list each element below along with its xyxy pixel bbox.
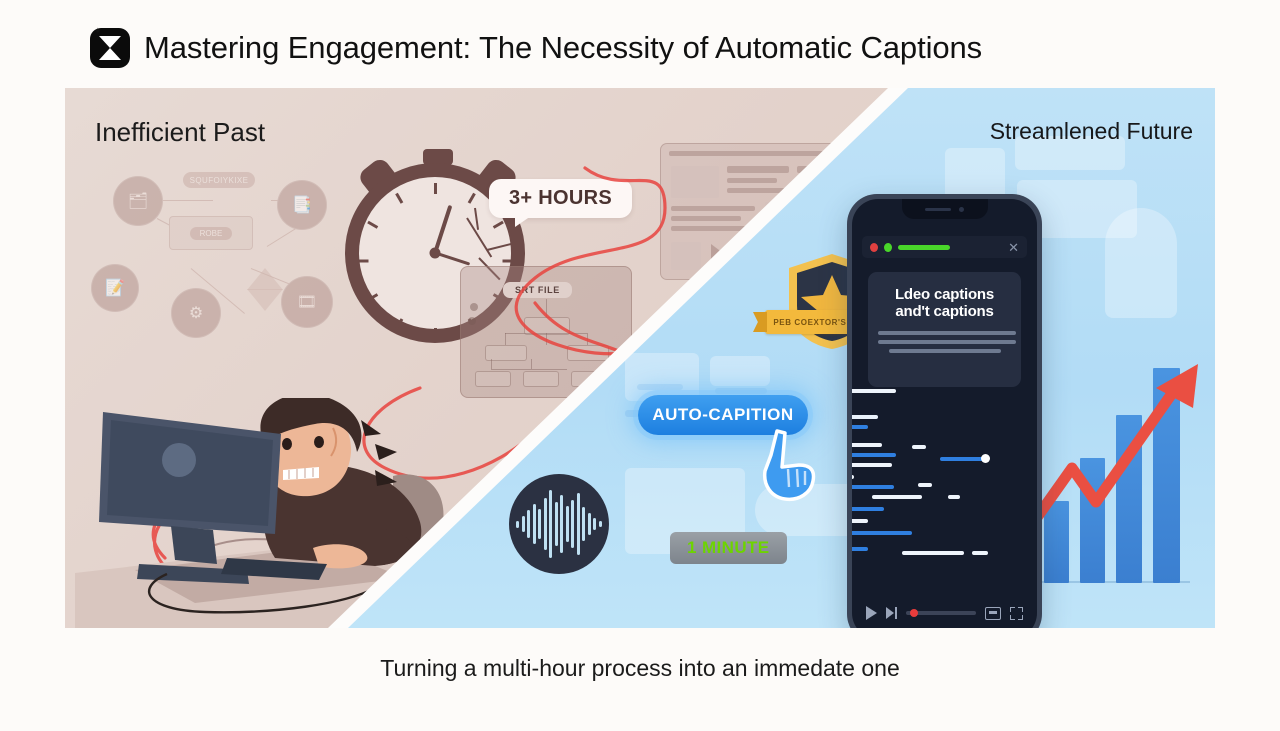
srt-file-chip: SRT FILE: [503, 282, 572, 298]
node-icon-notes: 📝: [91, 264, 139, 312]
node-icon-settings: ⚙: [171, 288, 221, 338]
decor-diamond-bottom: [247, 289, 283, 311]
ghost-panel-1: [945, 148, 1005, 200]
hourglass-icon: ✦: [90, 28, 130, 68]
node-icon-documents: 🗂: [113, 176, 163, 226]
sparkle-icon: ✦: [94, 26, 100, 32]
status-dot-icon: [884, 243, 892, 252]
footer-caption: Turning a multi-hour process into an imm…: [0, 655, 1280, 682]
record-dot-icon: [870, 243, 878, 252]
progress-indicator: [898, 245, 950, 250]
trend-arrow-icon: [1030, 316, 1215, 566]
phone-status-row: ✕: [862, 236, 1027, 258]
node-chip-top: SQUFOIYKIXE: [183, 172, 255, 188]
caption-preview-card: Ldeo captions and't captions: [868, 272, 1021, 387]
hero-image: 🗂 📑 📝 ⚙ 🎞 SQUFOIYKIXE ROBE: [65, 88, 1215, 628]
ghost-panel-5: [625, 353, 699, 401]
decor-diamond-top: [247, 268, 283, 290]
pointing-hand-cursor-icon: [755, 425, 823, 503]
node-icon-media: 🎞: [281, 276, 333, 328]
page-title: Mastering Engagement: The Necessity of A…: [144, 30, 982, 66]
ghost-panel-4: [1105, 208, 1177, 318]
close-icon[interactable]: ✕: [1008, 241, 1019, 254]
caption-line-1: Ldeo captions: [878, 286, 1011, 303]
node-center-label: ROBE: [190, 227, 233, 240]
play-icon[interactable]: [866, 606, 877, 620]
node-center-box: ROBE: [169, 216, 253, 250]
page-title-row: ✦ Mastering Engagement: The Necessity of…: [90, 22, 1200, 74]
progress-bar[interactable]: [906, 611, 976, 615]
slide-root: ✦ Mastering Engagement: The Necessity of…: [0, 0, 1280, 731]
caption-line-2: and't captions: [878, 303, 1011, 320]
node-icon-subtitles: 📑: [277, 180, 327, 230]
one-minute-badge: 1 MINUTE: [670, 532, 787, 564]
ghost-panel-6: [710, 356, 770, 386]
left-panel-label: Inefficient Past: [95, 117, 265, 148]
phone-screen: ✕ Ldeo captions and't captions: [852, 199, 1037, 628]
phone-mockup: ✕ Ldeo captions and't captions: [847, 194, 1042, 628]
viewer-retention-chart: [1040, 368, 1190, 583]
right-panel-label: Streamlened Future: [990, 118, 1193, 145]
hours-badge: 3+ HOURS: [489, 179, 632, 218]
next-icon[interactable]: [886, 607, 897, 619]
captions-icon[interactable]: [985, 607, 1001, 620]
phone-notch: [902, 199, 988, 219]
video-controls[interactable]: [860, 601, 1029, 625]
fullscreen-icon[interactable]: [1010, 607, 1023, 620]
audio-waveform-icon: [509, 474, 609, 574]
slider-knob[interactable]: [981, 454, 990, 463]
